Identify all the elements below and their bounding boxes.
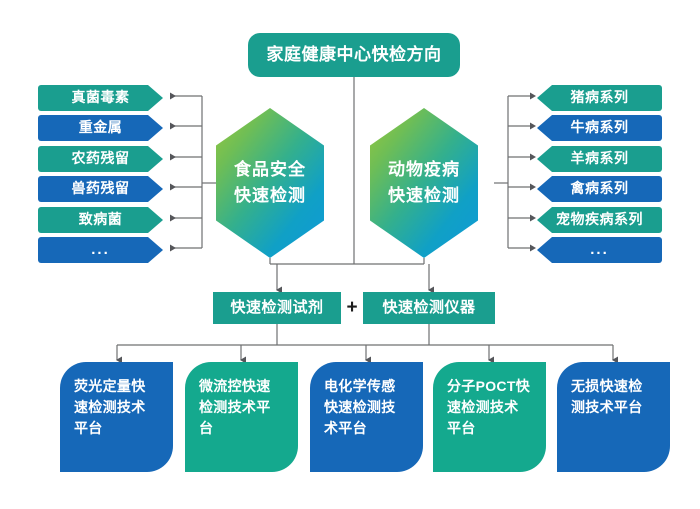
platform-card-3[interactable]: 分子POCT快 速检测技术 平台 <box>433 362 546 472</box>
platform-card-1-line1: 微流控快速 <box>199 376 271 397</box>
branch-food-safety-line2: 快速检测 <box>234 183 306 209</box>
platform-card-0-line1: 荧光定量快 <box>74 376 146 397</box>
platform-card-3-line2: 速检测技术 <box>447 397 530 418</box>
food-item-more[interactable]: ... <box>38 237 163 263</box>
platform-card-2-line2: 快速检测技 <box>324 397 396 418</box>
food-item-3[interactable]: 兽药残留 <box>38 176 163 202</box>
middle-node-instrument[interactable]: 快速检测仪器 <box>363 292 495 324</box>
animal-item-3[interactable]: 禽病系列 <box>537 176 662 202</box>
middle-node-reagent[interactable]: 快速检测试剂 <box>213 292 341 324</box>
food-item-2[interactable]: 农药残留 <box>38 146 163 172</box>
branch-animal-disease[interactable]: 动物疫病 快速检测 <box>370 108 478 258</box>
platform-card-3-line1: 分子POCT快 <box>447 376 530 397</box>
plus-operator: + <box>341 292 363 324</box>
platform-card-2-line1: 电化学传感 <box>324 376 396 397</box>
platform-card-2-line3: 术平台 <box>324 418 396 439</box>
animal-item-more[interactable]: ... <box>537 237 662 263</box>
platform-card-1-line3: 台 <box>199 418 271 439</box>
platform-card-0[interactable]: 荧光定量快 速检测技术 平台 <box>60 362 173 472</box>
food-item-0[interactable]: 真菌毒素 <box>38 85 163 111</box>
platform-card-4[interactable]: 无损快速检 测技术平台 <box>557 362 670 472</box>
platform-card-2[interactable]: 电化学传感 快速检测技 术平台 <box>310 362 423 472</box>
platform-card-4-line1: 无损快速检 <box>571 376 643 397</box>
food-item-4[interactable]: 致病菌 <box>38 207 163 233</box>
platform-card-0-line2: 速检测技术 <box>74 397 146 418</box>
root-node[interactable]: 家庭健康中心快检方向 <box>248 33 460 77</box>
animal-item-1[interactable]: 牛病系列 <box>537 115 662 141</box>
diagram-canvas: 家庭健康中心快检方向 真菌毒素 重金属 农药残留 兽药残留 致病菌 ... 猪病… <box>0 0 700 509</box>
branch-animal-disease-line2: 快速检测 <box>388 183 460 209</box>
branch-animal-disease-line1: 动物疫病 <box>388 157 460 183</box>
platform-card-1-line2: 检测技术平 <box>199 397 271 418</box>
animal-item-0[interactable]: 猪病系列 <box>537 85 662 111</box>
platform-card-0-line3: 平台 <box>74 418 146 439</box>
food-item-1[interactable]: 重金属 <box>38 115 163 141</box>
platform-card-1[interactable]: 微流控快速 检测技术平 台 <box>185 362 298 472</box>
platform-card-3-line3: 平台 <box>447 418 530 439</box>
animal-item-2[interactable]: 羊病系列 <box>537 146 662 172</box>
platform-card-4-line2: 测技术平台 <box>571 397 643 418</box>
branch-food-safety[interactable]: 食品安全 快速检测 <box>216 108 324 258</box>
branch-food-safety-line1: 食品安全 <box>234 157 306 183</box>
animal-item-4[interactable]: 宠物疾病系列 <box>537 207 662 233</box>
